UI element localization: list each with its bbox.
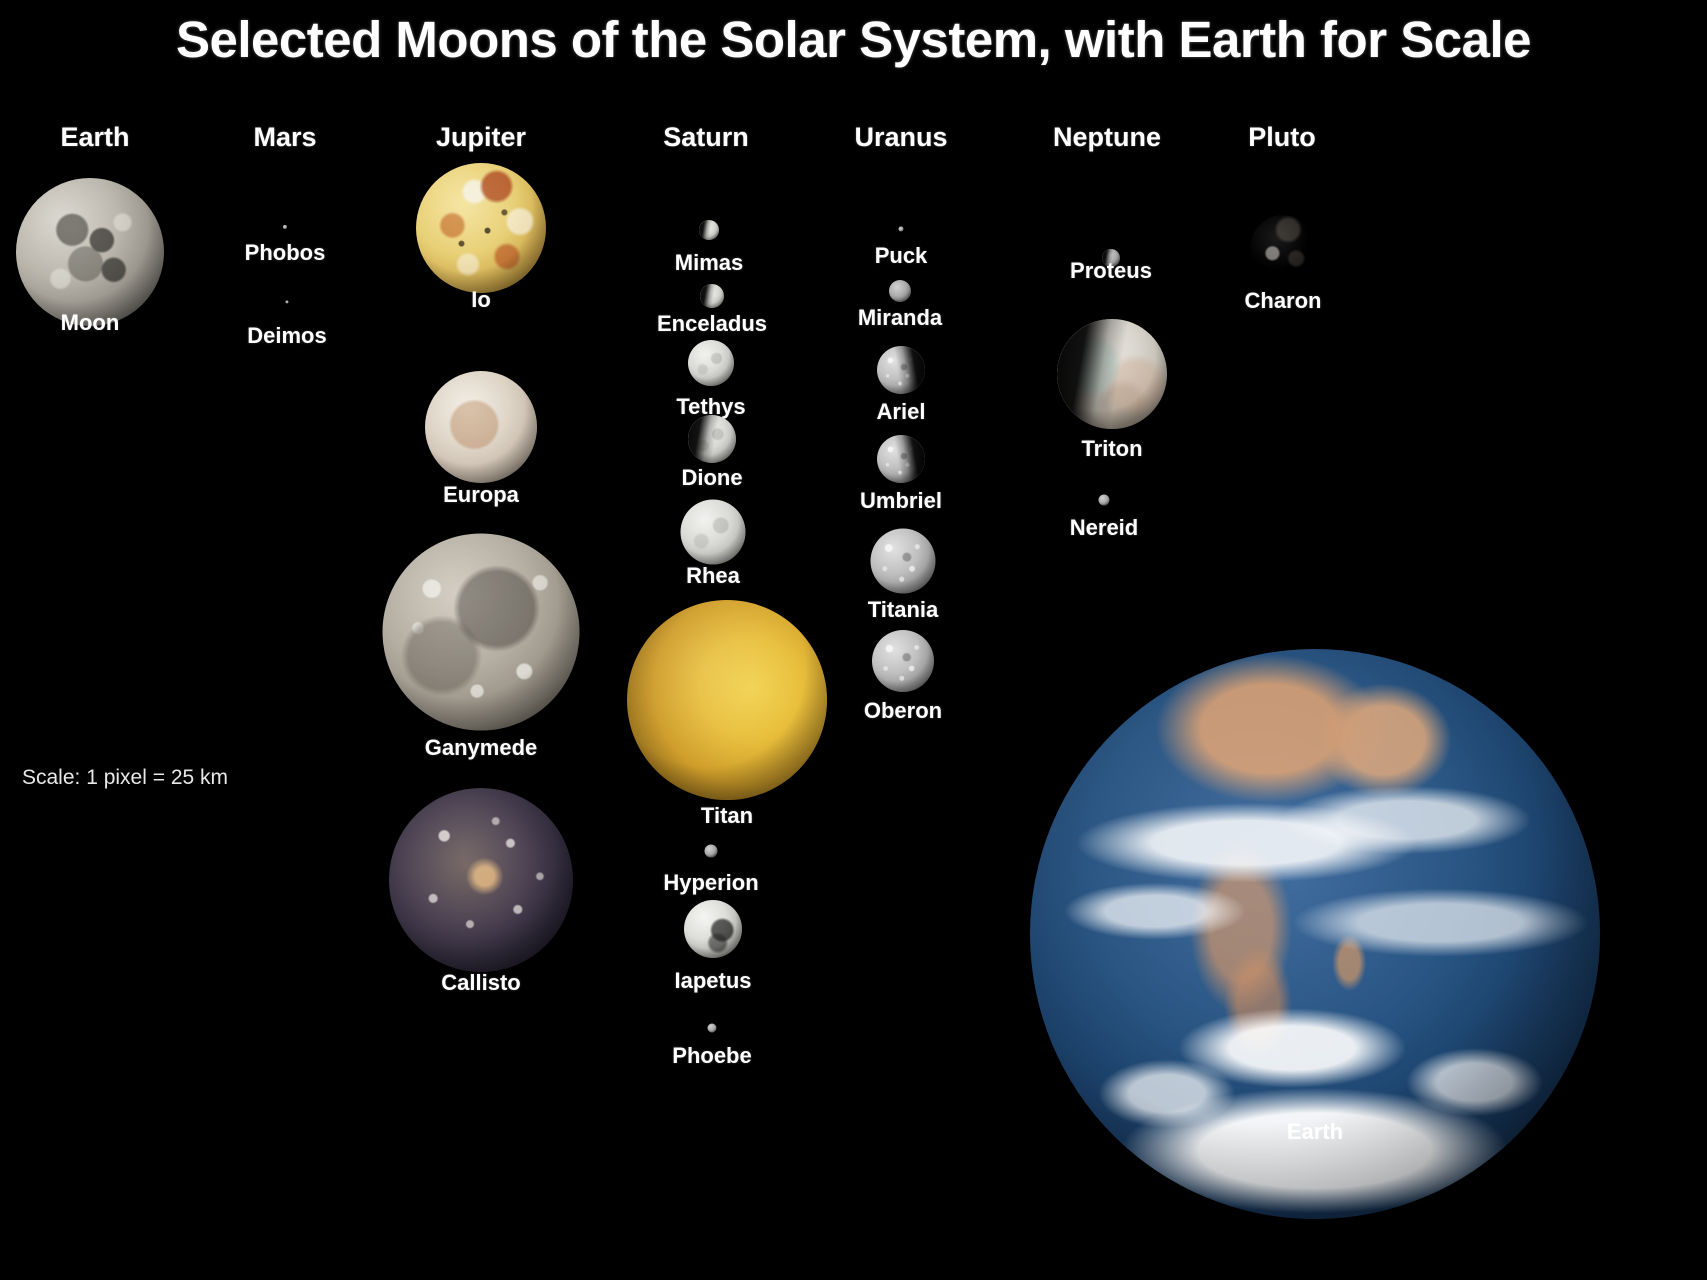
moon-mimas: [699, 220, 719, 240]
moon-io: [416, 163, 546, 293]
moon-europa: [425, 371, 537, 483]
moon-label-deimos: Deimos: [247, 323, 326, 349]
limb-shading: [283, 225, 287, 229]
infographic-canvas: Selected Moons of the Solar System, with…: [0, 0, 1707, 1280]
planet-header-jupiter: Jupiter: [436, 122, 526, 153]
moon-label-mimas: Mimas: [675, 250, 743, 276]
terminator-shadow: [877, 435, 925, 483]
moon-label-europa: Europa: [443, 482, 519, 508]
planet-header-earth: Earth: [60, 122, 129, 153]
moon-label-dione: Dione: [681, 465, 742, 491]
planet-header-uranus: Uranus: [854, 122, 947, 153]
limb-shading: [383, 534, 580, 731]
earth-globe-label: Earth: [1287, 1119, 1343, 1145]
limb-shading: [425, 371, 537, 483]
moon-label-iapetus: Iapetus: [674, 968, 751, 994]
moon-nereid: [1099, 495, 1110, 506]
moon-oberon: [872, 630, 934, 692]
moon-umbriel: [877, 435, 925, 483]
moon-label-triton: Triton: [1081, 436, 1142, 462]
limb-shading: [872, 630, 934, 692]
moon-titan: [627, 600, 827, 800]
limb-shading: [688, 340, 734, 386]
moon-callisto: [389, 788, 573, 972]
moon-label-charon: Charon: [1245, 288, 1322, 314]
planet-header-neptune: Neptune: [1053, 122, 1161, 153]
moon-label-oberon: Oberon: [864, 698, 942, 724]
moon-triton: [1057, 319, 1167, 429]
limb-shading: [416, 163, 546, 293]
moon-label-io: Io: [471, 287, 491, 313]
moon-label-rhea: Rhea: [686, 563, 740, 589]
moon-titania: [871, 529, 936, 594]
moon-enceladus: [700, 284, 724, 308]
moon-miranda: [889, 280, 911, 302]
moon-label-phoebe: Phoebe: [672, 1043, 751, 1069]
moon-rhea: [681, 500, 746, 565]
limb-shading: [627, 600, 827, 800]
terminator-shadow: [1057, 319, 1167, 429]
moon-label-umbriel: Umbriel: [860, 488, 942, 514]
limb-shading: [705, 845, 718, 858]
limb-shading: [16, 178, 164, 326]
limb-shading: [1099, 495, 1110, 506]
scale-note: Scale: 1 pixel = 25 km: [22, 766, 228, 790]
moon-charon: [1250, 215, 1316, 281]
moon-hyperion: [705, 845, 718, 858]
moon-label-enceladus: Enceladus: [657, 311, 767, 337]
moon-iapetus: [684, 900, 742, 958]
moon-label-miranda: Miranda: [858, 305, 942, 331]
moon-tethys: [688, 340, 734, 386]
planet-header-saturn: Saturn: [663, 122, 749, 153]
page-title: Selected Moons of the Solar System, with…: [0, 10, 1707, 69]
moon-label-ganymede: Ganymede: [425, 735, 538, 761]
moon-ganymede: [383, 534, 580, 731]
limb-shading: [899, 227, 904, 232]
moon-label-callisto: Callisto: [441, 970, 520, 996]
moon-label-titania: Titania: [868, 597, 939, 623]
moon-label-nereid: Nereid: [1070, 515, 1138, 541]
limb-shading: [389, 788, 573, 972]
moon-puck: [899, 227, 904, 232]
moon-deimos: [286, 301, 289, 304]
limb-shading: [681, 500, 746, 565]
limb-shading: [889, 280, 911, 302]
moon-label-hyperion: Hyperion: [663, 870, 758, 896]
moon-label-ariel: Ariel: [877, 399, 926, 425]
moon-label-proteus: Proteus: [1070, 258, 1152, 284]
planet-header-pluto: Pluto: [1248, 122, 1316, 153]
limb-shading: [684, 900, 742, 958]
moon-moon: [16, 178, 164, 326]
terminator-shadow: [699, 220, 719, 240]
limb-shading: [1250, 215, 1316, 281]
limb-shading: [286, 301, 289, 304]
terminator-shadow: [688, 415, 736, 463]
limb-shading: [708, 1024, 717, 1033]
moon-label-titan: Titan: [701, 803, 753, 829]
moon-phobos: [283, 225, 287, 229]
terminator-shadow: [877, 346, 925, 394]
moon-phoebe: [708, 1024, 717, 1033]
moon-label-moon: Moon: [61, 310, 120, 336]
limb-shading: [871, 529, 936, 594]
moon-label-phobos: Phobos: [245, 240, 326, 266]
planet-header-mars: Mars: [253, 122, 316, 153]
moon-label-puck: Puck: [875, 243, 928, 269]
moon-ariel: [877, 346, 925, 394]
moon-dione: [688, 415, 736, 463]
terminator-shadow: [700, 284, 724, 308]
